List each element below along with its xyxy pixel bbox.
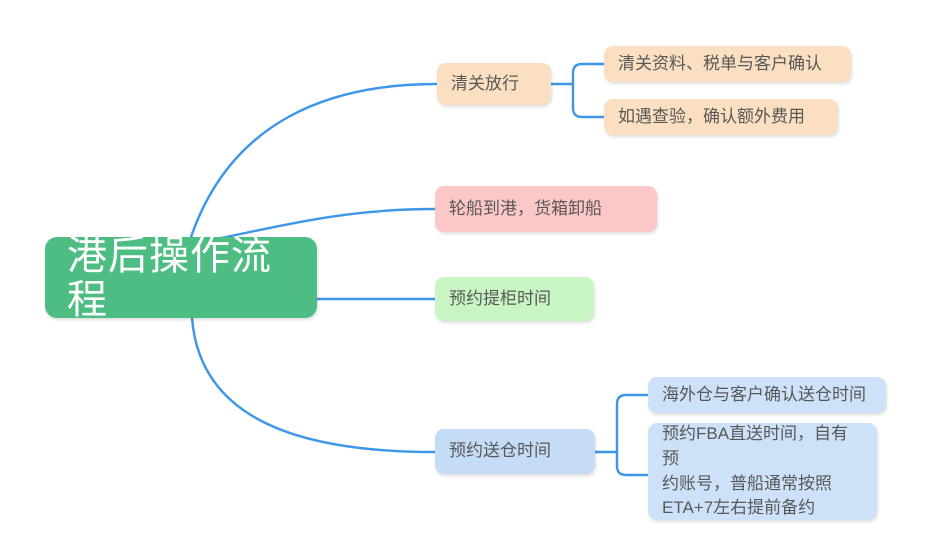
leaf-node-ru-yu-cha-yan[interactable]: 如遇查验，确认额外费用: [604, 99, 838, 135]
leaf-node-qing-guan-zi-liao[interactable]: 清关资料、税单与客户确认: [604, 46, 851, 82]
branch-node-qing-guan-fang-xing[interactable]: 清关放行: [437, 63, 551, 105]
leaf-node-label: 如遇查验，确认额外费用: [618, 105, 805, 130]
leaf-node-label: 预约FBA直送时间，自有预 约账号，普船通常按照 ETA+7左右提前备约: [662, 422, 863, 521]
edge-branch-1-to-child-2: [573, 84, 604, 117]
edge-root-to-branch-4: [192, 318, 435, 452]
branch-node-yu-yue-ti-gui-shi-jian[interactable]: 预约提柜时间: [435, 277, 594, 321]
branch-node-label: 轮船到港，货箱卸船: [449, 197, 602, 222]
leaf-node-label: 海外仓与客户确认送仓时间: [662, 383, 866, 408]
branch-node-label: 预约送仓时间: [449, 439, 551, 464]
leaf-node-label: 清关资料、税单与客户确认: [618, 52, 822, 77]
leaf-node-yu-yue-fba[interactable]: 预约FBA直送时间，自有预 约账号，普船通常按照 ETA+7左右提前备约: [648, 423, 877, 520]
root-node-label: 港后操作流程: [67, 234, 295, 322]
edge-branch-4-to-child-1: [617, 395, 648, 452]
branch-node-yu-yue-song-cang-shi-jian[interactable]: 预约送仓时间: [435, 429, 595, 474]
edge-branch-4-to-child-2: [617, 452, 648, 475]
edge-root-to-branch-1: [190, 84, 437, 240]
branch-node-label: 清关放行: [451, 72, 519, 97]
branch-node-label: 预约提柜时间: [449, 287, 551, 312]
mindmap-canvas[interactable]: 港后操作流程 清关放行 清关资料、税单与客户确认 如遇查验，确认额外费用 轮船到…: [0, 0, 943, 556]
root-node[interactable]: 港后操作流程: [45, 237, 317, 318]
branch-node-lun-chuan-dao-gang[interactable]: 轮船到港，货箱卸船: [435, 186, 657, 232]
edge-branch-1-to-child-1: [573, 64, 604, 84]
leaf-node-hai-wai-cang[interactable]: 海外仓与客户确认送仓时间: [648, 377, 886, 413]
